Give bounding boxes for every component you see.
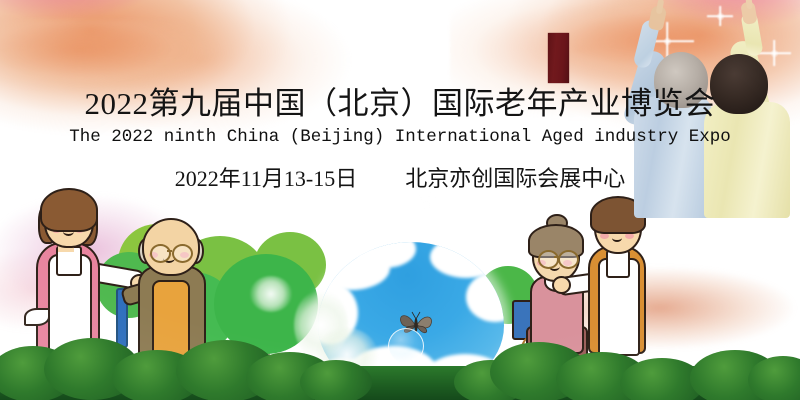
eyeglasses-lens: [558, 250, 579, 269]
expo-poster: 2022第九届中国（北京）国际老年产业博览会 The 2022 ninth Ch…: [0, 0, 800, 400]
event-date: 2022年11月13-15日: [175, 164, 358, 194]
headline-block: 2022第九届中国（北京）国际老年产业博览会 The 2022 ninth Ch…: [0, 86, 800, 149]
foliage-strip: [0, 334, 800, 400]
caregiver-left-hair: [40, 188, 98, 232]
elder-left-head: [142, 218, 200, 276]
page-title: 2022第九届中国（北京）国际老年产业博览会: [0, 86, 800, 122]
eyeglasses-lens: [172, 244, 193, 263]
red-seal-mark: [548, 33, 569, 83]
event-meta-row: 2022年11月13-15日 北京亦创国际会展中心: [0, 164, 800, 194]
caregiver-left-apron-bow: [24, 308, 50, 326]
blossom-cluster: [250, 276, 292, 312]
event-venue: 北京亦创国际会展中心: [405, 164, 625, 194]
leaf-clump: [300, 360, 372, 400]
eyeglasses-bridge: [167, 250, 172, 252]
eyeglasses-bridge: [554, 256, 559, 258]
mouth: [612, 234, 622, 242]
caregiver-center-hand: [552, 276, 571, 294]
eyeglasses-lens: [150, 244, 171, 263]
page-subtitle: The 2022 ninth China (Beijing) Internati…: [0, 125, 800, 149]
eyeglasses-lens: [538, 250, 559, 269]
cloud: [466, 272, 504, 322]
caregiver-center-apron-bib: [606, 250, 630, 278]
